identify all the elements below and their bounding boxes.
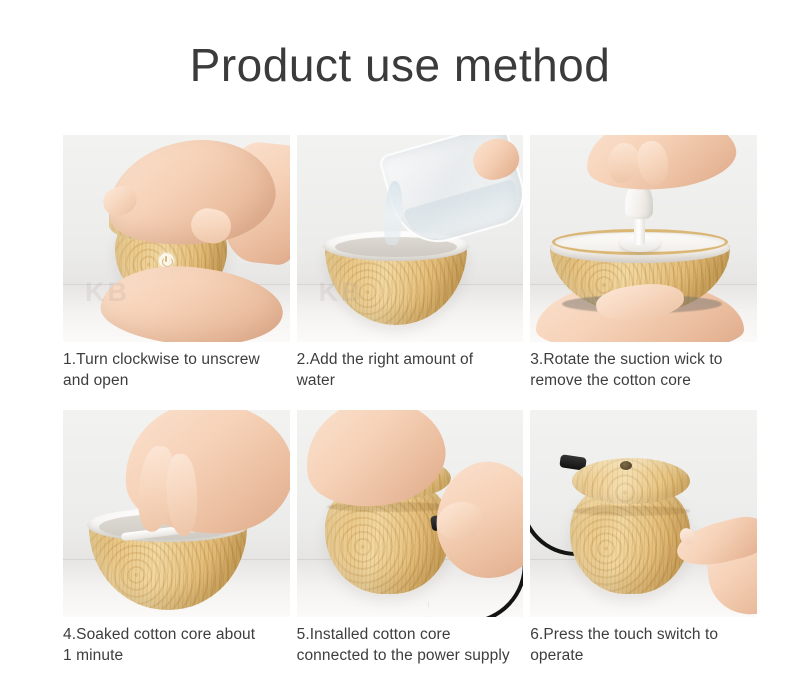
page-title: Product use method xyxy=(0,40,800,91)
step-caption-1: 1.Turn clockwise to unscrew and open xyxy=(63,342,290,401)
steps-grid: KB 1.Turn clockwise to unscrew and open … xyxy=(63,135,757,676)
steps-row-2: 4.Soaked cotton core about 1 minute 5.In… xyxy=(63,410,757,676)
step-photo-2: KB xyxy=(297,135,524,342)
step-card-3: 3.Rotate the suction wick to remove the … xyxy=(530,135,757,401)
step-photo-3 xyxy=(530,135,757,342)
lid-seam xyxy=(572,506,690,516)
steps-row-1: KB 1.Turn clockwise to unscrew and open … xyxy=(63,135,757,401)
step-card-6: 6.Press the touch switch to operate xyxy=(530,410,757,676)
step-caption-6: 6.Press the touch switch to operate xyxy=(530,617,757,676)
step-card-1: KB 1.Turn clockwise to unscrew and open xyxy=(63,135,290,401)
step-caption-3: 3.Rotate the suction wick to remove the … xyxy=(530,342,757,401)
row-gap xyxy=(63,401,757,410)
step-card-5: 5.Installed cotton core connected to the… xyxy=(297,410,524,676)
product-use-method-page: { "page": { "title": "Product use method… xyxy=(0,0,800,684)
step-photo-4 xyxy=(63,410,290,617)
step-photo-5 xyxy=(297,410,524,617)
step-card-4: 4.Soaked cotton core about 1 minute xyxy=(63,410,290,676)
step-card-2: KB 2.Add the right amount of water xyxy=(297,135,524,401)
step-photo-6 xyxy=(530,410,757,617)
step-caption-2: 2.Add the right amount of water xyxy=(297,342,524,401)
step-photo-1: KB xyxy=(63,135,290,342)
step-caption-4: 4.Soaked cotton core about 1 minute xyxy=(63,617,290,676)
step-caption-5: 5.Installed cotton core connected to the… xyxy=(297,617,524,676)
